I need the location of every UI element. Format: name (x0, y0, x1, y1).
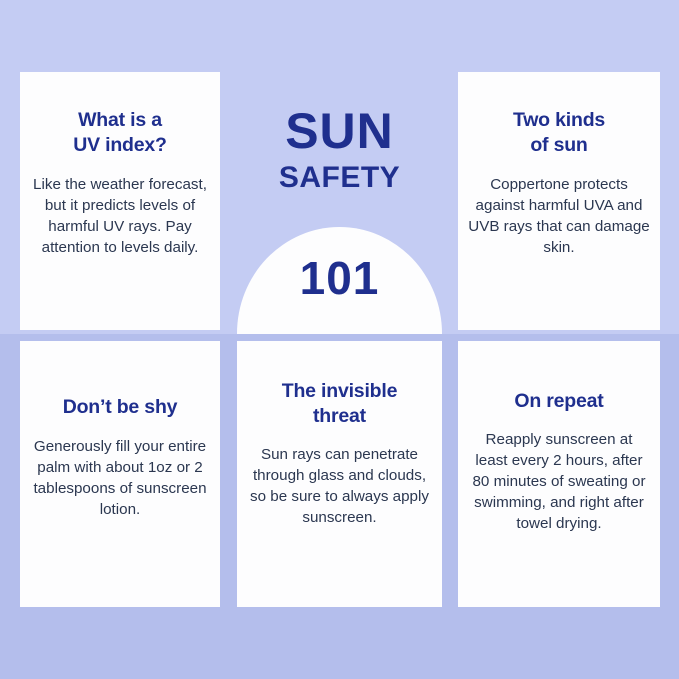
card-two-kinds-heading: Two kindsof sun (468, 108, 650, 158)
card-uv-index-body: Like the weather forecast, but it predic… (30, 175, 210, 259)
card-on-repeat-heading: On repeat (468, 389, 650, 414)
course-number: 101 (237, 255, 442, 301)
card-two-kinds-body: Coppertone protects against harmful UVA … (468, 175, 650, 259)
card-invisible-threat: The invisiblethreat Sun rays can penetra… (237, 341, 442, 607)
main-title: SUN SAFETY (237, 106, 442, 196)
card-uv-index: What is aUV index? Like the weather fore… (20, 72, 220, 330)
card-on-repeat: On repeat Reapply sunscreen at least eve… (458, 341, 660, 607)
card-invisible-threat-heading: The invisiblethreat (247, 379, 432, 429)
card-uv-index-heading: What is aUV index? (30, 108, 210, 158)
card-two-kinds: Two kindsof sun Coppertone protects agai… (458, 72, 660, 330)
main-title-line-1: SUN (237, 106, 442, 156)
card-invisible-threat-body: Sun rays can penetrate through glass and… (247, 445, 432, 529)
card-dont-be-shy-heading: Don’t be shy (30, 395, 210, 420)
main-title-line-2: SAFETY (237, 160, 442, 196)
card-on-repeat-body: Reapply sunscreen at least every 2 hours… (468, 430, 650, 535)
card-dont-be-shy-body: Generously fill your entire palm with ab… (30, 437, 210, 521)
card-dont-be-shy: Don’t be shy Generously fill your entire… (20, 341, 220, 607)
sun-safety-infographic: What is aUV index? Like the weather fore… (0, 0, 679, 679)
